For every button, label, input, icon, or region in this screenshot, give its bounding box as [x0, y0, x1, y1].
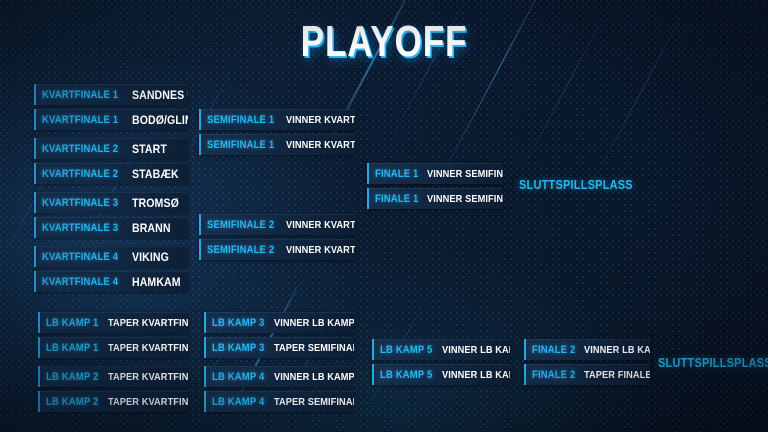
match-tag: FINALE 1	[369, 168, 418, 180]
match-tag: FINALE 1	[369, 193, 418, 205]
match-tag: LB KAMP 4	[206, 371, 264, 383]
match-row[interactable]: SEMIFINALE 1 VINNER KVARTFINALE 1	[199, 109, 355, 130]
match-team: TAPER KVARTFINALE 1	[108, 317, 188, 329]
match-team: BODØ/GLIMT	[132, 113, 188, 127]
match-team: TAPER SEMIFINALE 2	[274, 342, 354, 354]
match-team: VINNER KVARTFINALE 3	[286, 219, 355, 231]
match-row[interactable]: LB KAMP 1 TAPER KVARTFINALE 1	[38, 312, 188, 333]
match-row[interactable]: FINALE 2 TAPER FINALE 1	[524, 364, 650, 385]
match-team: TAPER SEMIFINALE 1	[274, 396, 354, 408]
match-row[interactable]: LB KAMP 1 TAPER KVARTFINALE 2	[38, 337, 188, 358]
match-team: STABÆK	[132, 167, 179, 181]
match-row[interactable]: LB KAMP 4 TAPER SEMIFINALE 1	[204, 391, 354, 412]
match-row[interactable]: KVARTFINALE 3 TROMSØ	[34, 192, 188, 213]
match-tag: LB KAMP 2	[40, 371, 98, 383]
match-team: VINNER LB KAMP 1	[274, 317, 354, 329]
match-tag: LB KAMP 5	[374, 369, 432, 381]
match-tag: LB KAMP 3	[206, 342, 264, 354]
match-row[interactable]: SEMIFINALE 2 VINNER KVARTFINALE 3	[199, 214, 355, 235]
match-tag: LB KAMP 4	[206, 396, 264, 408]
match-tag: LB KAMP 2	[40, 396, 98, 408]
match-team: VINNER LB KAMP 4	[442, 369, 510, 381]
match-tag: LB KAMP 3	[206, 317, 264, 329]
lower-prize-label: SLUTTSPILLSPLASS	[658, 355, 768, 370]
match-row[interactable]: KVARTFINALE 4 HAMKAM	[34, 271, 188, 292]
match-tag: KVARTFINALE 3	[36, 222, 118, 234]
match-team: VINNER KVARTFINALE 4	[286, 244, 355, 256]
match-tag: LB KAMP 1	[40, 317, 98, 329]
match-row[interactable]: SEMIFINALE 1 VINNER KVARTFINALE 2	[199, 134, 355, 155]
match-tag: SEMIFINALE 2	[201, 244, 274, 256]
match-team: VINNER KVARTFINALE 2	[286, 139, 355, 151]
match-team: VINNER KVARTFINALE 1	[286, 114, 355, 126]
match-row[interactable]: FINALE 2 VINNER LB KAMP 5	[524, 339, 650, 360]
match-row[interactable]: KVARTFINALE 4 VIKING	[34, 246, 188, 267]
match-row[interactable]: KVARTFINALE 3 BRANN	[34, 217, 188, 238]
match-tag: KVARTFINALE 3	[36, 197, 118, 209]
match-row[interactable]: FINALE 1 VINNER SEMIFINALE 1	[367, 163, 503, 184]
match-tag: KVARTFINALE 1	[36, 89, 118, 101]
match-team: SANDNES ULF	[132, 88, 188, 102]
match-row[interactable]: SEMIFINALE 2 VINNER KVARTFINALE 4	[199, 239, 355, 260]
match-row[interactable]: LB KAMP 5 VINNER LB KAMP 4	[372, 364, 510, 385]
match-row[interactable]: KVARTFINALE 2 START	[34, 138, 188, 159]
match-team: TROMSØ	[132, 196, 179, 210]
match-tag: KVARTFINALE 4	[36, 251, 118, 263]
match-team: TAPER KVARTFINALE 2	[108, 342, 188, 354]
match-row[interactable]: KVARTFINALE 1 BODØ/GLIMT	[34, 109, 188, 130]
match-row[interactable]: LB KAMP 2 TAPER KVARTFINALE 4	[38, 391, 188, 412]
match-tag: FINALE 2	[526, 344, 575, 356]
match-tag: KVARTFINALE 2	[36, 143, 118, 155]
match-tag: KVARTFINALE 4	[36, 276, 118, 288]
match-tag: KVARTFINALE 1	[36, 114, 118, 126]
playoff-bracket-screen: PLAYOFF KVARTFINALE 1 SANDNES ULF KVARTF…	[0, 0, 768, 432]
match-team: VINNER LB KAMP 3	[442, 344, 510, 356]
match-row[interactable]: LB KAMP 3 VINNER LB KAMP 1	[204, 312, 354, 333]
match-team: VINNER LB KAMP 2	[274, 371, 354, 383]
match-tag: SEMIFINALE 1	[201, 114, 274, 126]
match-tag: LB KAMP 1	[40, 342, 98, 354]
match-tag: SEMIFINALE 1	[201, 139, 274, 151]
match-team: TAPER KVARTFINALE 3	[108, 371, 188, 383]
match-tag: LB KAMP 5	[374, 344, 432, 356]
upper-prize-label: SLUTTSPILLSPLASS	[519, 177, 633, 192]
match-team: TAPER FINALE 1	[584, 369, 651, 381]
match-team: TAPER KVARTFINALE 4	[108, 396, 188, 408]
match-row[interactable]: KVARTFINALE 1 SANDNES ULF	[34, 84, 188, 105]
page-title: PLAYOFF	[77, 20, 691, 64]
match-tag: FINALE 2	[526, 369, 575, 381]
match-row[interactable]: LB KAMP 2 TAPER KVARTFINALE 3	[38, 366, 188, 387]
match-team: VINNER LB KAMP 5	[584, 344, 651, 356]
match-team: START	[132, 142, 167, 156]
match-team: VIKING	[132, 250, 169, 264]
match-row[interactable]: LB KAMP 5 VINNER LB KAMP 3	[372, 339, 510, 360]
match-team: VINNER SEMIFINALE 1	[427, 168, 504, 180]
match-row[interactable]: KVARTFINALE 2 STABÆK	[34, 163, 188, 184]
match-team: BRANN	[132, 221, 171, 235]
match-row[interactable]: LB KAMP 4 VINNER LB KAMP 2	[204, 366, 354, 387]
match-tag: KVARTFINALE 2	[36, 168, 118, 180]
match-row[interactable]: FINALE 1 VINNER SEMIFINALE 2	[367, 188, 503, 209]
match-team: HAMKAM	[132, 275, 181, 289]
match-row[interactable]: LB KAMP 3 TAPER SEMIFINALE 2	[204, 337, 354, 358]
match-team: VINNER SEMIFINALE 2	[427, 193, 504, 205]
match-tag: SEMIFINALE 2	[201, 219, 274, 231]
